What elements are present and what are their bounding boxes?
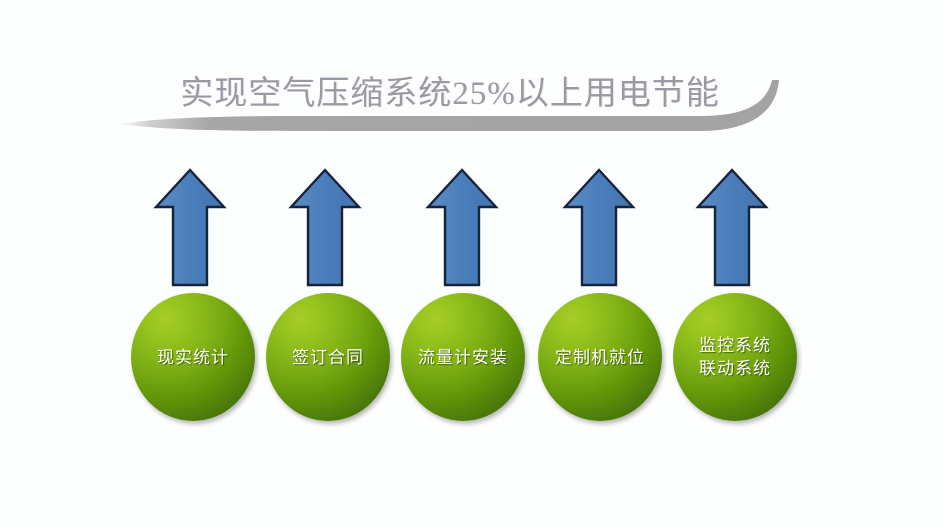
title-banner: 实现空气压缩系统25%以上用电节能 xyxy=(0,28,945,148)
step-bubble-3[interactable]: 流量计安装 xyxy=(401,293,525,421)
step-bubble-label: 签订合同 xyxy=(292,346,364,369)
up-arrow-icon xyxy=(398,165,528,290)
step-bubble-label: 流量计安装 xyxy=(418,346,508,369)
step-bubble-4[interactable]: 定制机就位 xyxy=(538,293,662,421)
step-bubble-5[interactable]: 监控系统 联动系统 xyxy=(673,293,797,421)
step-bubble-label: 现实统计 xyxy=(157,346,229,369)
up-arrow-icon xyxy=(263,165,393,290)
step-bubble-label: 监控系统 联动系统 xyxy=(699,334,771,380)
step-column-5: 监控系统 联动系统 xyxy=(670,165,800,430)
up-arrow-icon xyxy=(128,165,258,290)
page-title: 实现空气压缩系统25%以上用电节能 xyxy=(150,72,750,116)
step-column-1: 现实统计 xyxy=(128,165,258,430)
step-column-4: 定制机就位 xyxy=(535,165,665,430)
step-column-3: 流量计安装 xyxy=(398,165,528,430)
slide-canvas: 实现空气压缩系统25%以上用电节能 现实统计 xyxy=(0,0,945,529)
up-arrow-icon xyxy=(535,165,665,290)
step-bubble-1[interactable]: 现实统计 xyxy=(131,293,255,421)
step-bubble-label: 定制机就位 xyxy=(555,346,645,369)
step-bubble-2[interactable]: 签订合同 xyxy=(266,293,390,421)
step-column-2: 签订合同 xyxy=(263,165,393,430)
up-arrow-icon xyxy=(670,165,800,290)
